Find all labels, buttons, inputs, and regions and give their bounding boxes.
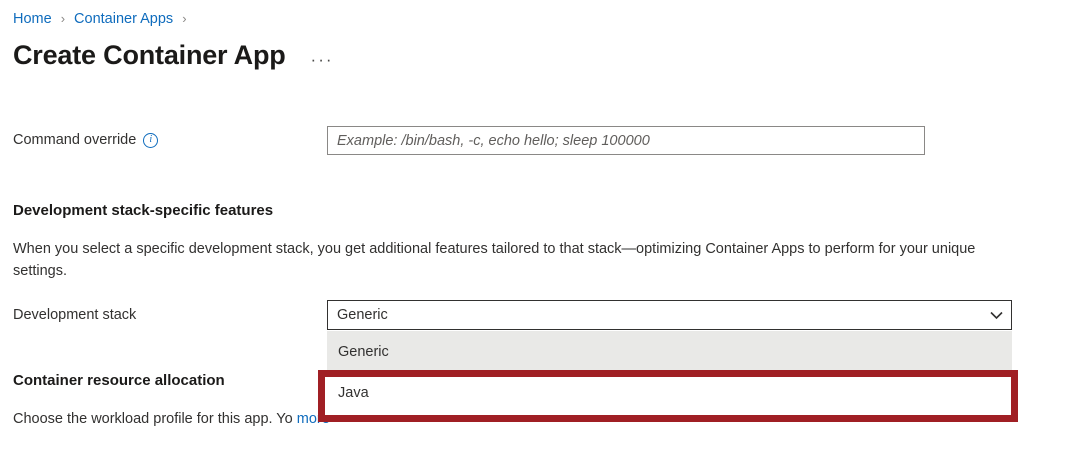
listbox-option-java[interactable]: Java [327, 372, 1012, 413]
ellipsis-horizontal-icon[interactable]: ··· [308, 53, 337, 67]
page-title: Create Container App [13, 40, 286, 71]
command-override-label-text: Command override [13, 130, 136, 150]
breadcrumb: Home › Container Apps › [13, 9, 196, 29]
development-stack-selected-value: Generic [328, 307, 981, 323]
command-override-input[interactable] [327, 126, 925, 155]
container-resource-description-text: Choose the workload profile for this app… [13, 411, 293, 427]
container-resource-section-description: Choose the workload profile for this app… [13, 408, 343, 430]
chevron-down-icon[interactable] [981, 311, 1011, 320]
learn-more-link[interactable]: more [297, 411, 330, 427]
development-stack-section-description: When you select a specific development s… [13, 238, 1018, 282]
chevron-right-icon: › [61, 9, 65, 29]
page-header: Create Container App ··· [13, 40, 337, 71]
container-resource-section-heading: Container resource allocation [13, 371, 225, 391]
development-stack-combobox[interactable]: Generic [327, 300, 1012, 330]
breadcrumb-item-home[interactable]: Home [13, 9, 52, 29]
development-stack-label: Development stack [13, 305, 136, 325]
development-stack-listbox[interactable]: Generic Java [327, 331, 1012, 413]
listbox-option-generic[interactable]: Generic [327, 331, 1012, 372]
breadcrumb-item-container-apps[interactable]: Container Apps [74, 9, 173, 29]
info-circle-icon[interactable]: i [143, 133, 158, 148]
development-stack-label-text: Development stack [13, 305, 136, 325]
development-stack-section-heading: Development stack-specific features [13, 201, 273, 221]
command-override-label: Command override i [13, 130, 158, 150]
chevron-right-icon-trailing: › [182, 9, 186, 29]
